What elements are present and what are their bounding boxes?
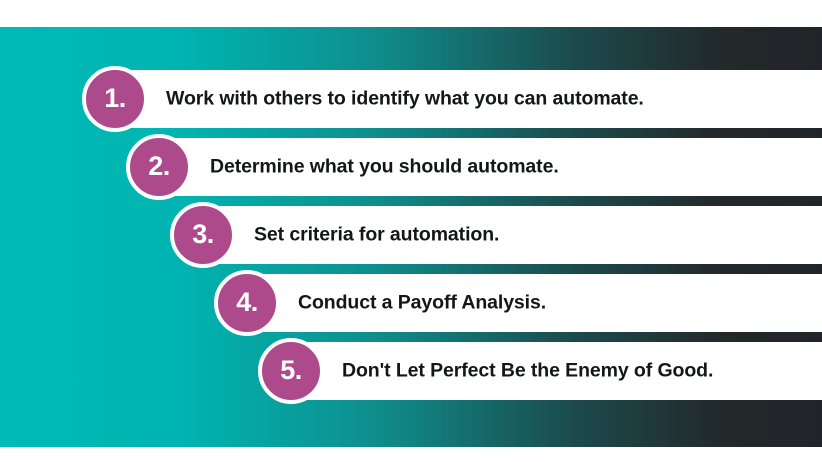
step-number: 4.: [236, 289, 258, 316]
step-number-badge: 1.: [82, 66, 148, 132]
step-number: 2.: [148, 153, 170, 180]
step-bar: Determine what you should automate.: [144, 138, 822, 196]
step-label: Don't Let Perfect Be the Enemy of Good.: [342, 360, 713, 383]
step-bar: Don't Let Perfect Be the Enemy of Good.: [276, 342, 822, 400]
infographic-canvas: Work with others to identify what you ca…: [0, 0, 822, 462]
step-label: Conduct a Payoff Analysis.: [298, 292, 546, 315]
step-label: Determine what you should automate.: [210, 156, 559, 179]
step-number-badge: 5.: [258, 338, 324, 404]
step-bar: Conduct a Payoff Analysis.: [232, 274, 822, 332]
step-label: Set criteria for automation.: [254, 224, 499, 247]
step-number-badge: 3.: [170, 202, 236, 268]
step-number-badge: 2.: [126, 134, 192, 200]
step-number: 3.: [192, 221, 214, 248]
step-label: Work with others to identify what you ca…: [166, 88, 644, 111]
step-bar: Set criteria for automation.: [188, 206, 822, 264]
step-number-badge: 4.: [214, 270, 280, 336]
step-bar: Work with others to identify what you ca…: [100, 70, 822, 128]
step-number: 5.: [280, 357, 302, 384]
step-number: 1.: [104, 85, 126, 112]
